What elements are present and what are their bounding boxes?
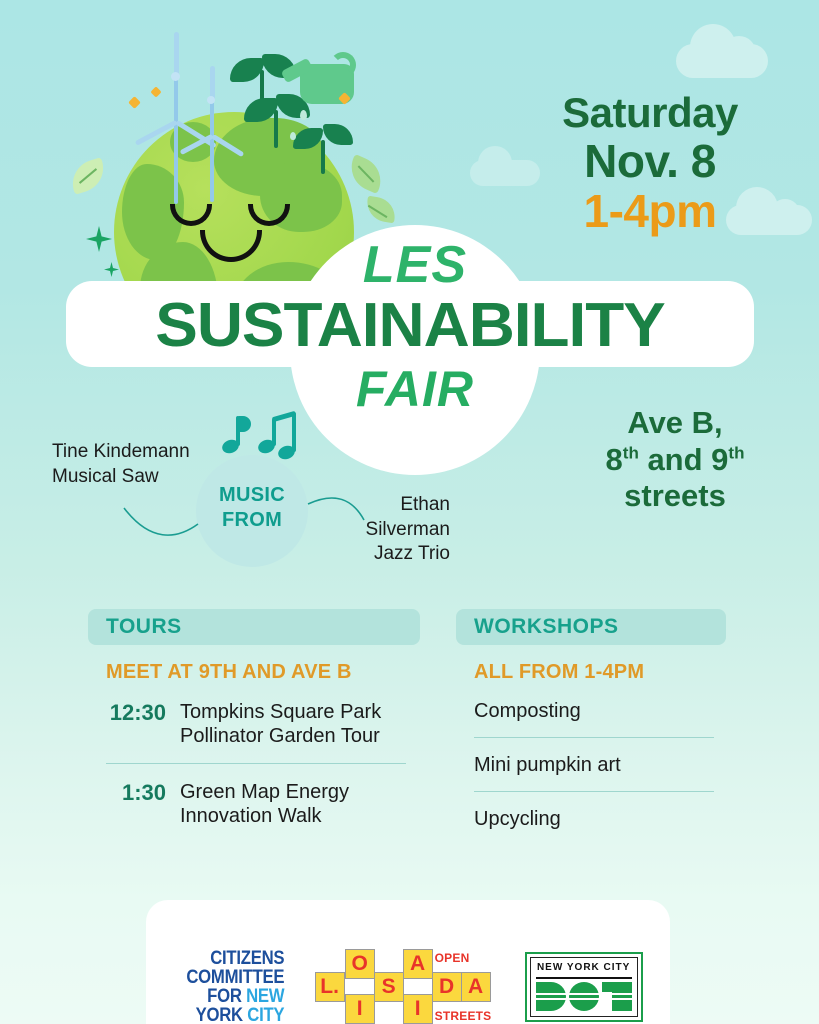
workshops-subhead: ALL FROM 1-4PM xyxy=(456,661,726,684)
music-act-left-line-1: Tine Kindemann xyxy=(52,440,212,465)
music-act-right-line-3: Jazz Trio xyxy=(330,542,450,567)
sparkle-icon xyxy=(104,262,119,277)
tours-subhead: MEET AT 9TH AND AVE B xyxy=(88,661,420,684)
event-day: Saturday xyxy=(500,92,800,134)
music-note-icon xyxy=(222,414,252,456)
music-act-right: Ethan Silverman Jazz Trio xyxy=(330,493,450,567)
dot-letters xyxy=(536,982,632,1011)
music-from-label: MUSIC FROM xyxy=(196,483,308,533)
divider xyxy=(536,977,632,979)
cloud-icon xyxy=(676,44,768,78)
workshops-heading: WORKSHOPS xyxy=(456,609,726,645)
tour-row: 1:30 Green Map Energy Innovation Walk xyxy=(88,764,420,843)
tour-name-line-2: Innovation Walk xyxy=(180,804,349,828)
tour-time: 1:30 xyxy=(88,780,180,806)
event-date: Nov. 8 xyxy=(500,138,800,184)
page-title: SUSTAINABILITY xyxy=(56,285,765,365)
dot-letter-o xyxy=(569,982,599,1011)
cc-line-3: FOR NEW xyxy=(187,987,285,1006)
loisaida-tile: A xyxy=(403,949,433,979)
dot-city-label: NEW YORK CITY xyxy=(531,962,637,973)
cc-line-1: CITIZENS xyxy=(187,949,285,968)
nyc-dot-logo: NEW YORK CITY xyxy=(525,952,643,1022)
leaf-icon xyxy=(364,196,398,224)
dot-letter-d xyxy=(536,982,566,1011)
loisaida-streets-label: STREETS xyxy=(435,1009,492,1023)
tour-name-line-2: Pollinator Garden Tour xyxy=(180,724,381,748)
cc-line-2: COMMITTEE xyxy=(187,968,285,987)
loisaida-tile: I xyxy=(403,994,433,1024)
loisaida-tile: D xyxy=(432,972,462,1002)
event-address: Ave B, 8th and 9th streets xyxy=(540,405,810,515)
loisaida-open-streets-logo: L. O I S A I D A OPEN STREETS xyxy=(315,949,495,1024)
earth-mouth xyxy=(200,230,262,262)
workshops-section: WORKSHOPS ALL FROM 1-4PM Composting Mini… xyxy=(456,609,726,845)
tour-name: Tompkins Square Park Pollinator Garden T… xyxy=(180,700,381,749)
tour-row: 12:30 Tompkins Square Park Pollinator Ga… xyxy=(88,684,420,763)
address-line-3: streets xyxy=(540,478,810,515)
music-act-right-line-2: Silverman xyxy=(330,518,450,543)
leaf-icon xyxy=(344,154,388,194)
workshop-row: Composting xyxy=(456,684,726,737)
event-poster: Saturday Nov. 8 1-4pm LES SUSTAINABILITY… xyxy=(0,0,819,1024)
loisaida-tile: I xyxy=(345,994,375,1024)
tour-time: 12:30 xyxy=(88,700,180,726)
cc-line-4: YORK CITY xyxy=(187,1006,285,1024)
workshop-row: Mini pumpkin art xyxy=(456,738,726,791)
sparkle-dot-icon xyxy=(150,86,161,97)
tours-section: TOURS MEET AT 9TH AND AVE B 12:30 Tompki… xyxy=(88,609,420,843)
sparkle-dot-icon xyxy=(128,96,141,109)
event-date-block: Saturday Nov. 8 1-4pm xyxy=(500,92,800,234)
music-act-left-line-2: Musical Saw xyxy=(52,465,212,490)
music-from-line-1: MUSIC xyxy=(196,483,308,508)
tours-heading: TOURS xyxy=(88,609,420,645)
loisaida-tile: A xyxy=(461,972,491,1002)
music-act-right-line-1: Ethan xyxy=(330,493,450,518)
tour-name-line-1: Green Map Energy xyxy=(180,780,349,804)
citizens-committee-logo: CITIZENS COMMITTEE FOR NEW YORK CITY xyxy=(173,949,284,1024)
workshop-row: Upcycling xyxy=(456,792,726,845)
title-fair: FAIR xyxy=(290,360,540,418)
address-line-1: Ave B, xyxy=(540,405,810,442)
tour-name: Green Map Energy Innovation Walk xyxy=(180,780,349,829)
event-time: 1-4pm xyxy=(500,188,800,234)
loisaida-tile: L. xyxy=(315,972,345,1002)
sparkle-icon xyxy=(86,226,112,252)
loisaida-tile: O xyxy=(345,949,375,979)
music-act-left: Tine Kindemann Musical Saw xyxy=(52,440,212,489)
address-line-2: 8th and 9th xyxy=(540,442,810,479)
sponsor-footer: CITIZENS COMMITTEE FOR NEW YORK CITY L. … xyxy=(146,900,670,1024)
tour-name-line-1: Tompkins Square Park xyxy=(180,700,381,724)
loisaida-open-label: OPEN xyxy=(435,951,470,965)
leaf-icon xyxy=(67,157,110,195)
dot-letter-t xyxy=(602,982,632,1011)
loisaida-tile: S xyxy=(374,972,404,1002)
music-from-line-2: FROM xyxy=(196,508,308,533)
